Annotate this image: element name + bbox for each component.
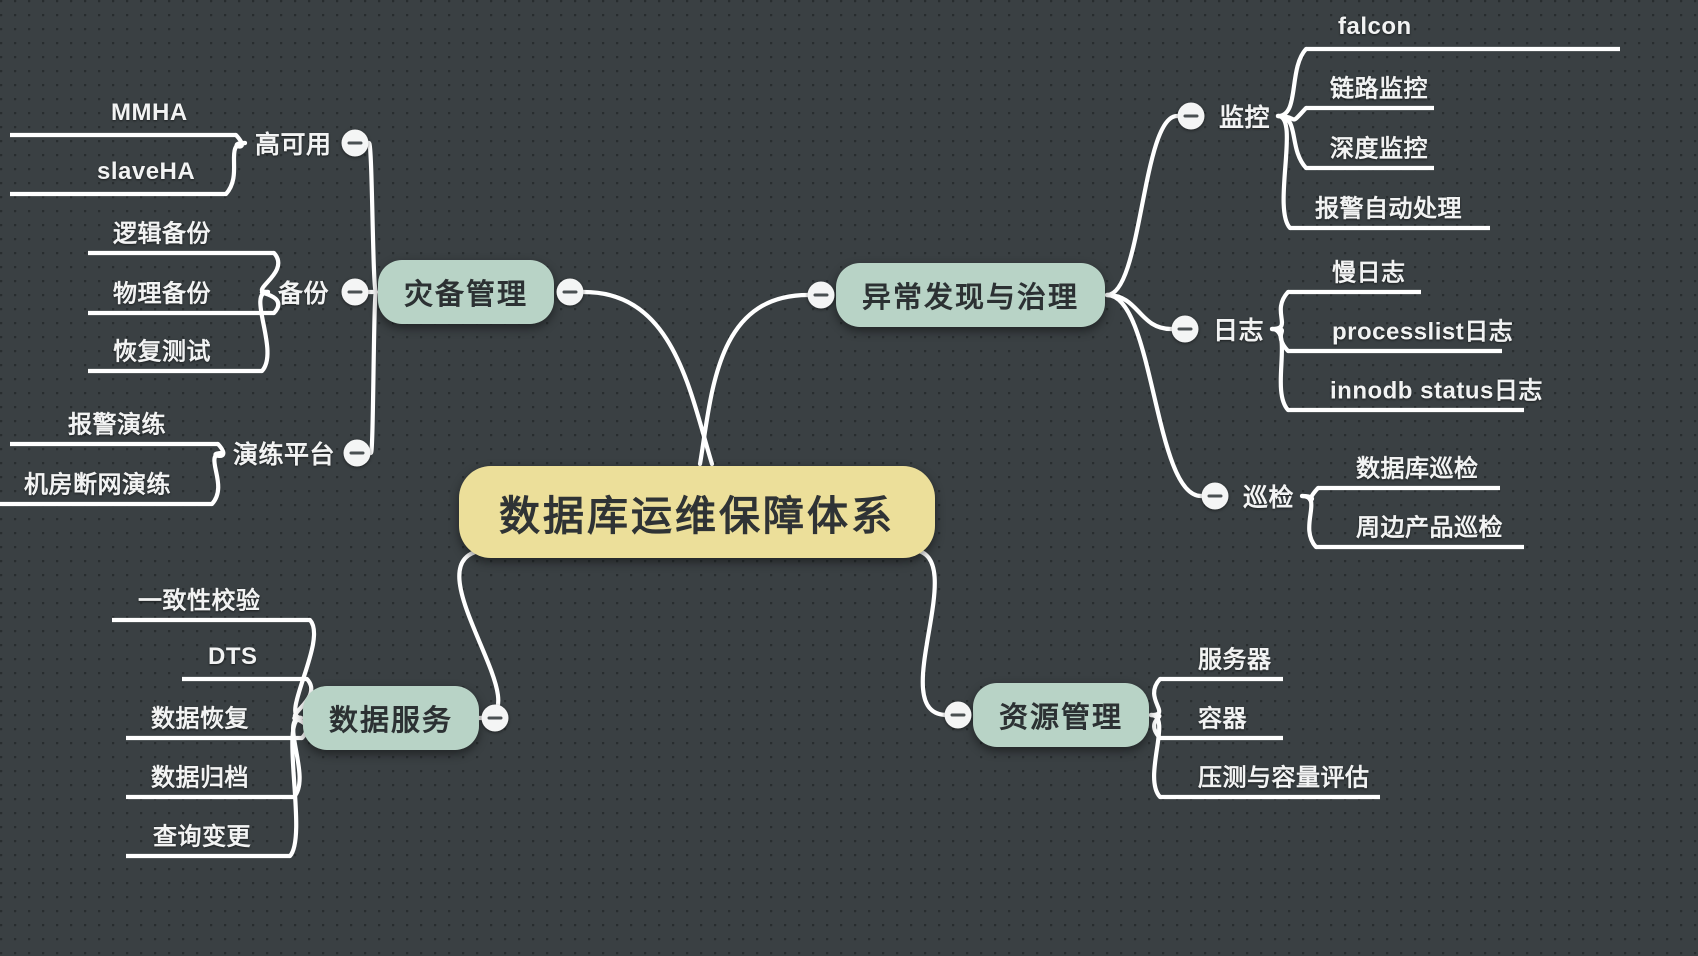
- connector-path: [371, 292, 376, 453]
- mid-node-监控: 监控: [1219, 98, 1270, 134]
- connector-path: [1272, 292, 1288, 329]
- leaf-node-slaveHA: slaveHA: [97, 158, 195, 186]
- leaf-node-DTS: DTS: [208, 643, 258, 671]
- leaf-node-逻辑备份: 逻辑备份: [113, 214, 211, 249]
- collapse-toggle-监控[interactable]: [1178, 103, 1205, 130]
- collapse-toggle-备份[interactable]: [342, 279, 369, 306]
- leaf-node-周边产品巡检: 周边产品巡检: [1356, 508, 1503, 543]
- leaf-node-压测与容量评估: 压测与容量评估: [1198, 758, 1370, 793]
- leaf-node-报警自动处理: 报警自动处理: [1315, 189, 1462, 224]
- collapse-toggle-日志[interactable]: [1172, 316, 1199, 343]
- connector-path: [260, 292, 268, 371]
- leaf-node-深度监控: 深度监控: [1330, 129, 1428, 164]
- connector-path: [1302, 496, 1316, 547]
- leaf-node-一致性校验: 一致性校验: [138, 581, 261, 616]
- collapse-toggle-高可用[interactable]: [342, 130, 369, 157]
- mindmap-canvas: { "meta": { "background_color": "#3a4043…: [0, 0, 1698, 956]
- leaf-node-恢复测试: 恢复测试: [113, 332, 211, 367]
- leaf-node-物理备份: 物理备份: [113, 274, 211, 309]
- connector-path: [700, 295, 808, 464]
- leaf-node-MMHA: MMHA: [111, 99, 188, 127]
- branch-node-data-service[interactable]: 数据服务: [303, 686, 479, 750]
- mid-node-演练平台: 演练平台: [233, 435, 335, 471]
- connector-path: [1272, 329, 1288, 410]
- branch-node-disaster-recovery[interactable]: 灾备管理: [378, 260, 554, 324]
- leaf-node-报警演练: 报警演练: [68, 405, 166, 440]
- leaf-node-机房断网演练: 机房断网演练: [24, 465, 171, 500]
- connector-path: [226, 143, 245, 194]
- mid-node-备份: 备份: [278, 274, 329, 310]
- collapse-toggle-disaster-recovery[interactable]: [557, 279, 584, 306]
- root-node[interactable]: 数据库运维保障体系: [459, 466, 935, 558]
- leaf-node-数据归档: 数据归档: [151, 758, 249, 793]
- mid-node-巡检: 巡检: [1243, 478, 1294, 514]
- branch-node-resource-management[interactable]: 资源管理: [973, 683, 1149, 747]
- connector-path: [1278, 116, 1290, 228]
- leaf-node-容器: 容器: [1198, 699, 1247, 734]
- leaf-node-查询变更: 查询变更: [153, 817, 251, 852]
- connector-path: [262, 253, 278, 292]
- leaf-node-慢日志: 慢日志: [1332, 253, 1406, 288]
- mid-node-日志: 日志: [1213, 311, 1264, 347]
- connector-path: [913, 550, 947, 715]
- leaf-node-链路监控: 链路监控: [1330, 69, 1428, 104]
- collapse-toggle-演练平台[interactable]: [344, 440, 371, 467]
- connector-path: [1278, 49, 1306, 116]
- branch-node-label: 灾备管理: [404, 271, 528, 313]
- connector-path: [1151, 679, 1160, 715]
- leaf-node-数据库巡检: 数据库巡检: [1356, 449, 1479, 484]
- leaf-node-processlist日志: processlist日志: [1332, 312, 1513, 347]
- leaf-node-innodb status日志: innodb status日志: [1330, 371, 1543, 406]
- branch-node-anomaly-detection[interactable]: 异常发现与治理: [836, 263, 1105, 327]
- root-node-label: 数据库运维保障体系: [499, 482, 895, 542]
- branch-node-label: 数据服务: [329, 697, 453, 739]
- connector-path: [1107, 116, 1177, 295]
- collapse-toggle-resource-management[interactable]: [945, 702, 972, 729]
- connector-path: [1278, 116, 1306, 168]
- branch-node-label: 异常发现与治理: [862, 274, 1079, 316]
- collapse-toggle-巡检[interactable]: [1202, 483, 1229, 510]
- branch-node-label: 资源管理: [999, 694, 1123, 736]
- leaf-node-服务器: 服务器: [1198, 640, 1272, 675]
- connector-path: [212, 453, 223, 504]
- leaf-node-falcon: falcon: [1338, 13, 1412, 41]
- collapse-toggle-data-service[interactable]: [482, 705, 509, 732]
- leaf-node-数据恢复: 数据恢复: [151, 699, 249, 734]
- collapse-toggle-anomaly-detection[interactable]: [808, 282, 835, 309]
- connector-path: [369, 143, 376, 292]
- connector-path: [584, 292, 712, 464]
- mid-node-高可用: 高可用: [255, 125, 332, 161]
